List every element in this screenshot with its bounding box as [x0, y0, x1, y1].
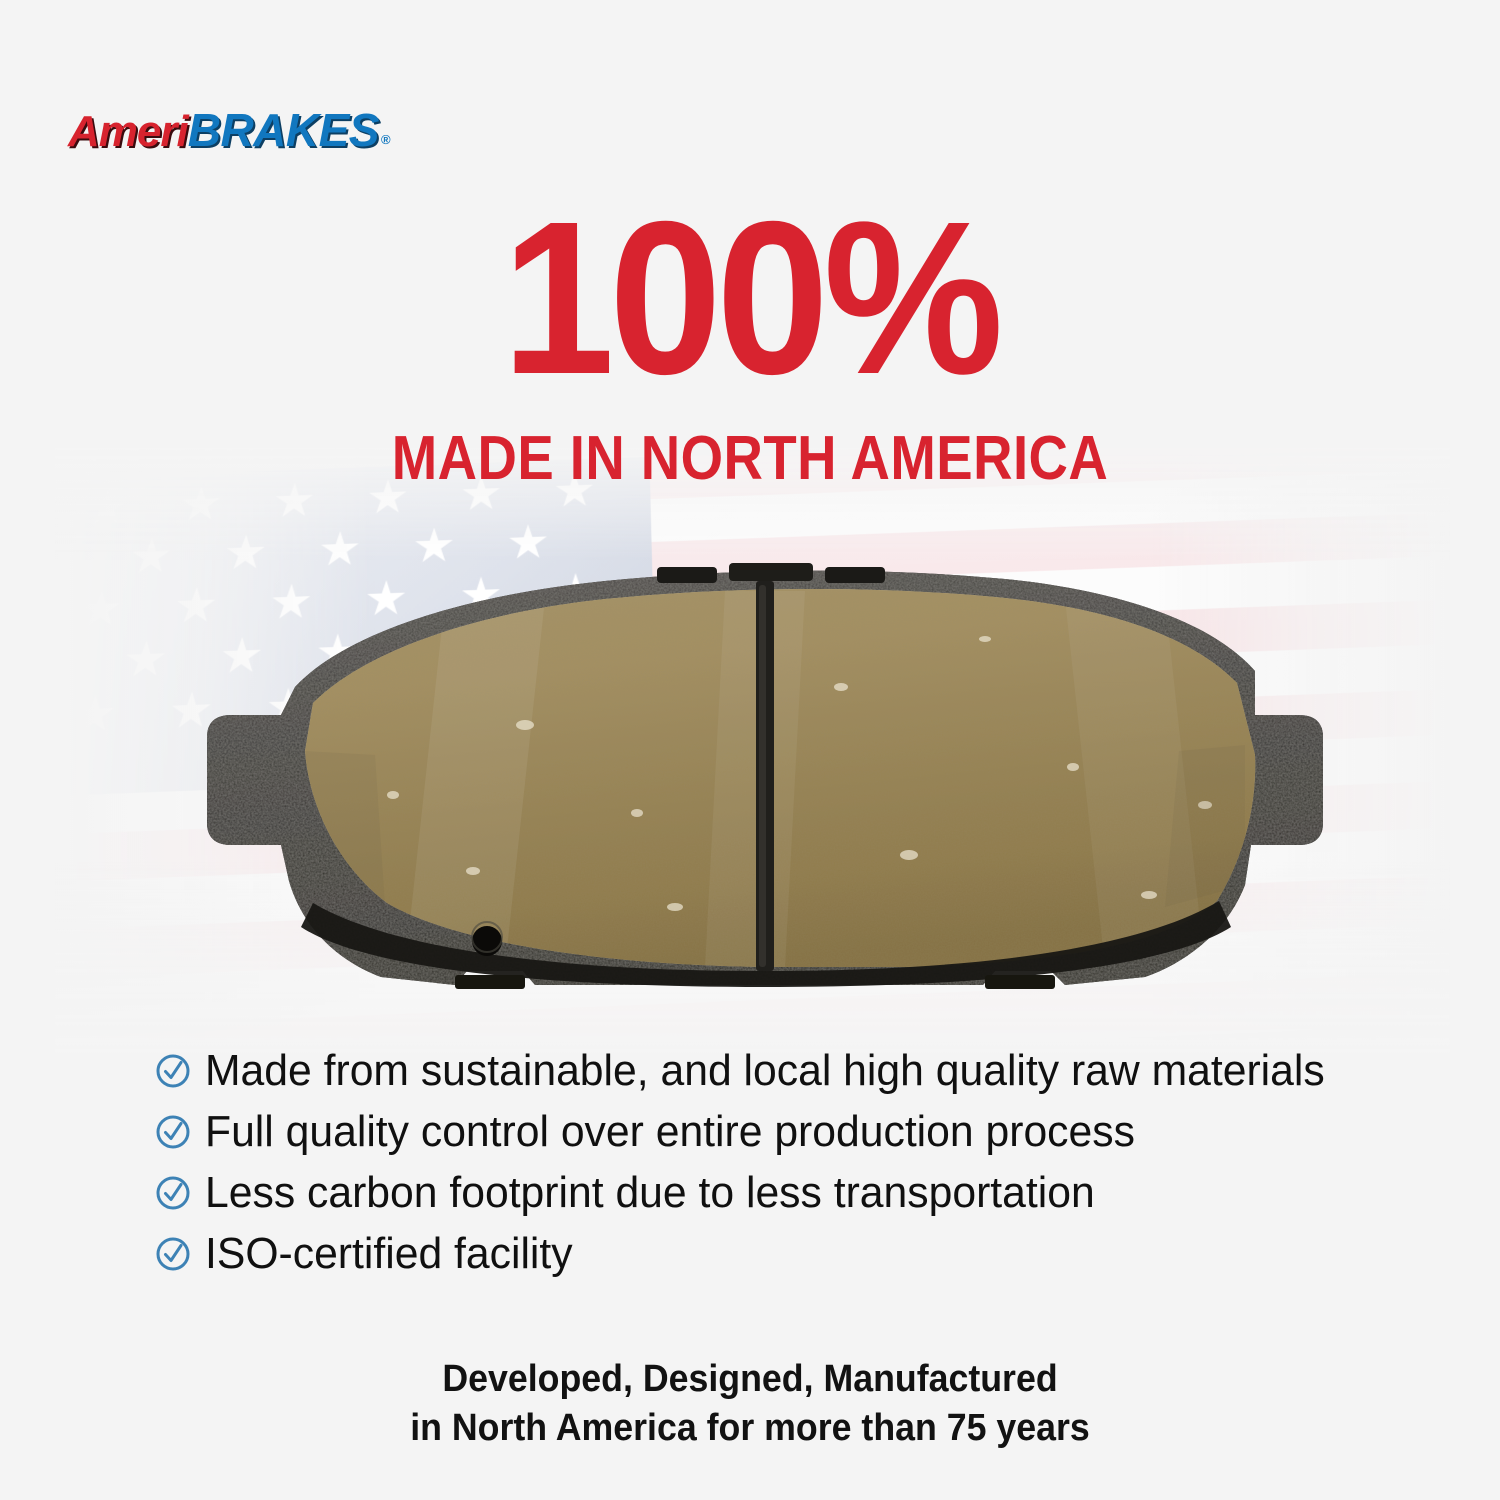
list-item: Full quality control over entire product… [155, 1101, 1405, 1162]
brand-logo-ameri: Ameri [68, 107, 188, 157]
registered-trademark-icon: ® [381, 132, 390, 147]
promo-canvas: Ameri BRAKES ® [0, 0, 1500, 1500]
footer-line-2: in North America for more than 75 years [45, 1404, 1455, 1453]
list-item: Less carbon footprint due to less transp… [155, 1162, 1405, 1223]
check-circle-icon [155, 1053, 191, 1089]
list-item: Made from sustainable, and local high qu… [155, 1040, 1405, 1101]
list-item-label: ISO-certified facility [205, 1229, 573, 1279]
check-circle-icon [155, 1175, 191, 1211]
check-circle-icon [155, 1114, 191, 1150]
pad-center-slot [756, 581, 774, 971]
pad-top-tabs [657, 563, 885, 583]
headline-subtitle: MADE IN NORTH AMERICA [90, 428, 1410, 490]
list-item: ISO-certified facility [155, 1223, 1405, 1284]
headline-percent: 100% [53, 195, 1448, 402]
list-item-label: Full quality control over entire product… [205, 1107, 1135, 1157]
check-circle-icon [155, 1236, 191, 1272]
footer-block: Developed, Designed, Manufactured in Nor… [0, 1355, 1500, 1452]
brake-pad-image [205, 555, 1325, 1000]
brake-pad-photo [205, 555, 1325, 1000]
brand-logo: Ameri BRAKES ® [68, 103, 390, 157]
list-item-label: Less carbon footprint due to less transp… [205, 1168, 1095, 1218]
brand-logo-brakes: BRAKES [188, 103, 379, 157]
feature-list: Made from sustainable, and local high qu… [155, 1040, 1405, 1284]
footer-line-1: Developed, Designed, Manufactured [45, 1355, 1455, 1404]
headline-block: 100% MADE IN NORTH AMERICA [0, 195, 1500, 490]
list-item-label: Made from sustainable, and local high qu… [205, 1046, 1325, 1096]
